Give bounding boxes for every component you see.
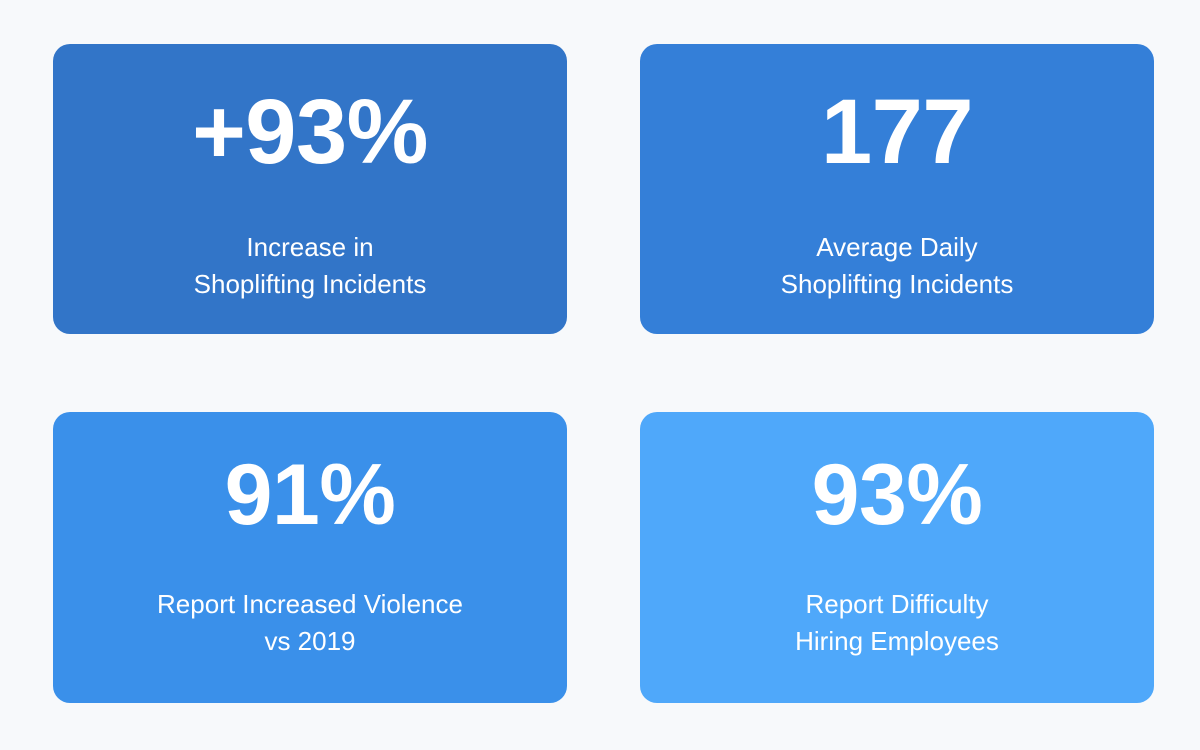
stat-label-line-1: Report Increased Violence (157, 586, 463, 623)
stat-card-hiring-difficulty[interactable]: 93% Report Difficulty Hiring Employees (640, 412, 1154, 703)
stat-label: Report Difficulty Hiring Employees (777, 586, 1017, 660)
stat-label-line-2: Shoplifting Incidents (781, 266, 1014, 303)
stat-card-shoplifting-increase[interactable]: +93% Increase in Shoplifting Incidents (53, 44, 567, 334)
stat-label: Report Increased Violence vs 2019 (139, 586, 481, 660)
stats-card-grid: +93% Increase in Shoplifting Incidents 1… (0, 0, 1200, 750)
stat-label: Increase in Shoplifting Incidents (176, 229, 445, 303)
stat-label-line-1: Increase in (194, 229, 427, 266)
stat-label-line-2: Shoplifting Incidents (194, 266, 427, 303)
stat-value: 177 (821, 86, 973, 178)
stat-card-increased-violence[interactable]: 91% Report Increased Violence vs 2019 (53, 412, 567, 703)
stat-value: +93% (192, 86, 428, 178)
stat-label-line-2: vs 2019 (157, 623, 463, 660)
stat-label: Average Daily Shoplifting Incidents (763, 229, 1032, 303)
stat-value: 91% (225, 452, 396, 538)
stat-card-average-daily-incidents[interactable]: 177 Average Daily Shoplifting Incidents (640, 44, 1154, 334)
stat-value: 93% (812, 452, 983, 538)
stat-label-line-1: Report Difficulty (795, 586, 999, 623)
stat-label-line-2: Hiring Employees (795, 623, 999, 660)
stat-label-line-1: Average Daily (781, 229, 1014, 266)
